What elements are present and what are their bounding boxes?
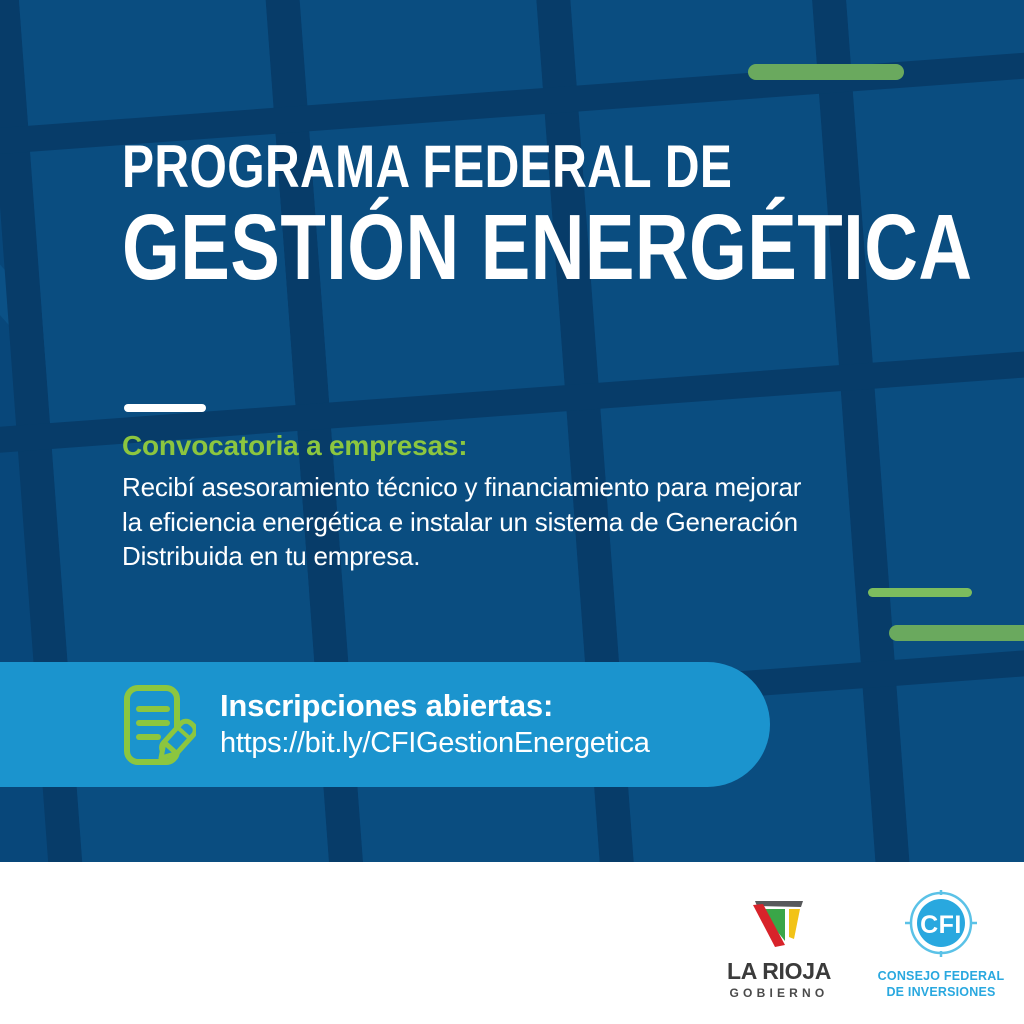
body-paragraph: Recibí asesoramiento técnico y financiam…	[122, 470, 802, 574]
document-pencil-icon	[122, 683, 196, 767]
divider-rule	[124, 404, 206, 412]
body-kicker: Convocatoria a empresas:	[122, 428, 822, 463]
cfi-circle-icon: CFI	[902, 890, 980, 960]
poster-canvas: PROGRAMA FEDERAL DE GESTIÓN ENERGÉTICA C…	[0, 0, 1024, 1024]
accent-bar-top-right	[748, 64, 904, 80]
logo-la-rioja: LA RIOJA GOBIERNO	[704, 893, 854, 999]
la-rioja-shield-icon	[741, 893, 817, 951]
la-rioja-name: LA RIOJA	[704, 960, 854, 983]
body-copy: Convocatoria a empresas: Recibí asesoram…	[122, 428, 822, 574]
headline-line-1: PROGRAMA FEDERAL DE	[122, 138, 778, 197]
cta-title: Inscripciones abiertas:	[220, 688, 650, 724]
page-title: PROGRAMA FEDERAL DE GESTIÓN ENERGÉTICA	[122, 138, 942, 294]
svg-text:CFI: CFI	[920, 911, 962, 939]
cfi-subtitle-line-2: DE INVERSIONES	[862, 985, 1020, 1000]
cfi-subtitle-line-1: CONSEJO FEDERAL	[862, 969, 1020, 984]
accent-bar-mid-right-thin	[868, 588, 972, 597]
registration-cta-banner[interactable]: Inscripciones abiertas: https://bit.ly/C…	[0, 662, 770, 787]
accent-bar-mid-right-thick	[889, 625, 1024, 641]
poster-background: PROGRAMA FEDERAL DE GESTIÓN ENERGÉTICA C…	[0, 0, 1024, 862]
headline-line-2: GESTIÓN ENERGÉTICA	[122, 201, 778, 294]
logo-cfi: CFI CONSEJO FEDERAL DE INVERSIONES	[862, 890, 1020, 1000]
cta-url-link[interactable]: https://bit.ly/CFIGestionEnergetica	[220, 726, 650, 761]
la-rioja-subtitle: GOBIERNO	[704, 987, 854, 999]
